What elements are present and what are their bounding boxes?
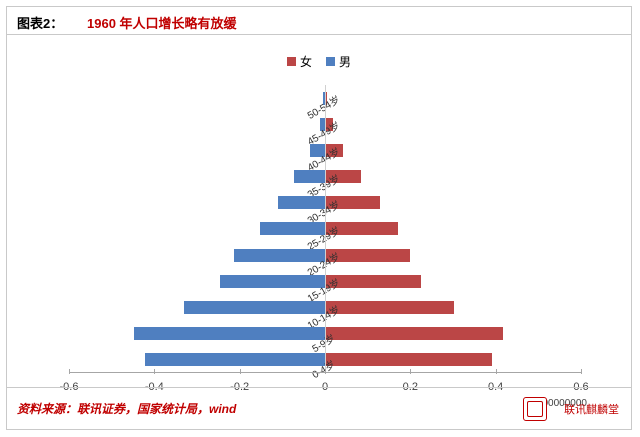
x-tick bbox=[69, 369, 70, 374]
bar-female bbox=[325, 301, 454, 314]
x-tick bbox=[325, 369, 326, 374]
source-note: 资料来源：联讯证券，国家统计局，wind bbox=[17, 400, 236, 417]
brand-logo-icon bbox=[523, 397, 547, 421]
bar-female bbox=[325, 353, 492, 366]
bar-male bbox=[145, 353, 325, 366]
population-pyramid-plot: 50-54岁45-49岁40-44岁35-39岁30-34岁25-29岁20-2… bbox=[69, 85, 581, 373]
page-title: 1960 年人口增长略有放缓 bbox=[87, 13, 237, 32]
chart-card: 图表2： 1960 年人口增长略有放缓 女 男 50-54岁45-49岁40-4… bbox=[6, 6, 632, 430]
legend-label-female: 女 bbox=[300, 53, 312, 70]
card-header: 图表2： 1960 年人口增长略有放缓 bbox=[7, 7, 631, 35]
zero-axis-line bbox=[325, 85, 326, 373]
x-tick bbox=[496, 369, 497, 374]
bar-female bbox=[325, 327, 503, 340]
x-tick bbox=[154, 369, 155, 374]
legend-item-male: 男 bbox=[326, 53, 351, 70]
bar-male bbox=[220, 275, 325, 288]
chart-legend: 女 男 bbox=[7, 53, 631, 70]
bar-male bbox=[134, 327, 325, 340]
x-tick bbox=[410, 369, 411, 374]
legend-swatch-female bbox=[287, 57, 296, 66]
figure-label: 图表2： bbox=[17, 13, 63, 32]
brand-name: 联讯麒麟堂 bbox=[564, 401, 619, 417]
x-tick bbox=[240, 369, 241, 374]
legend-label-male: 男 bbox=[339, 53, 351, 70]
bar-male bbox=[184, 301, 325, 314]
x-tick bbox=[581, 369, 582, 374]
card-footer: 资料来源：联讯证券，国家统计局，wind 联讯麒麟堂 bbox=[7, 387, 631, 429]
bar-male bbox=[234, 249, 325, 262]
legend-swatch-male bbox=[326, 57, 335, 66]
legend-item-female: 女 bbox=[287, 53, 312, 70]
